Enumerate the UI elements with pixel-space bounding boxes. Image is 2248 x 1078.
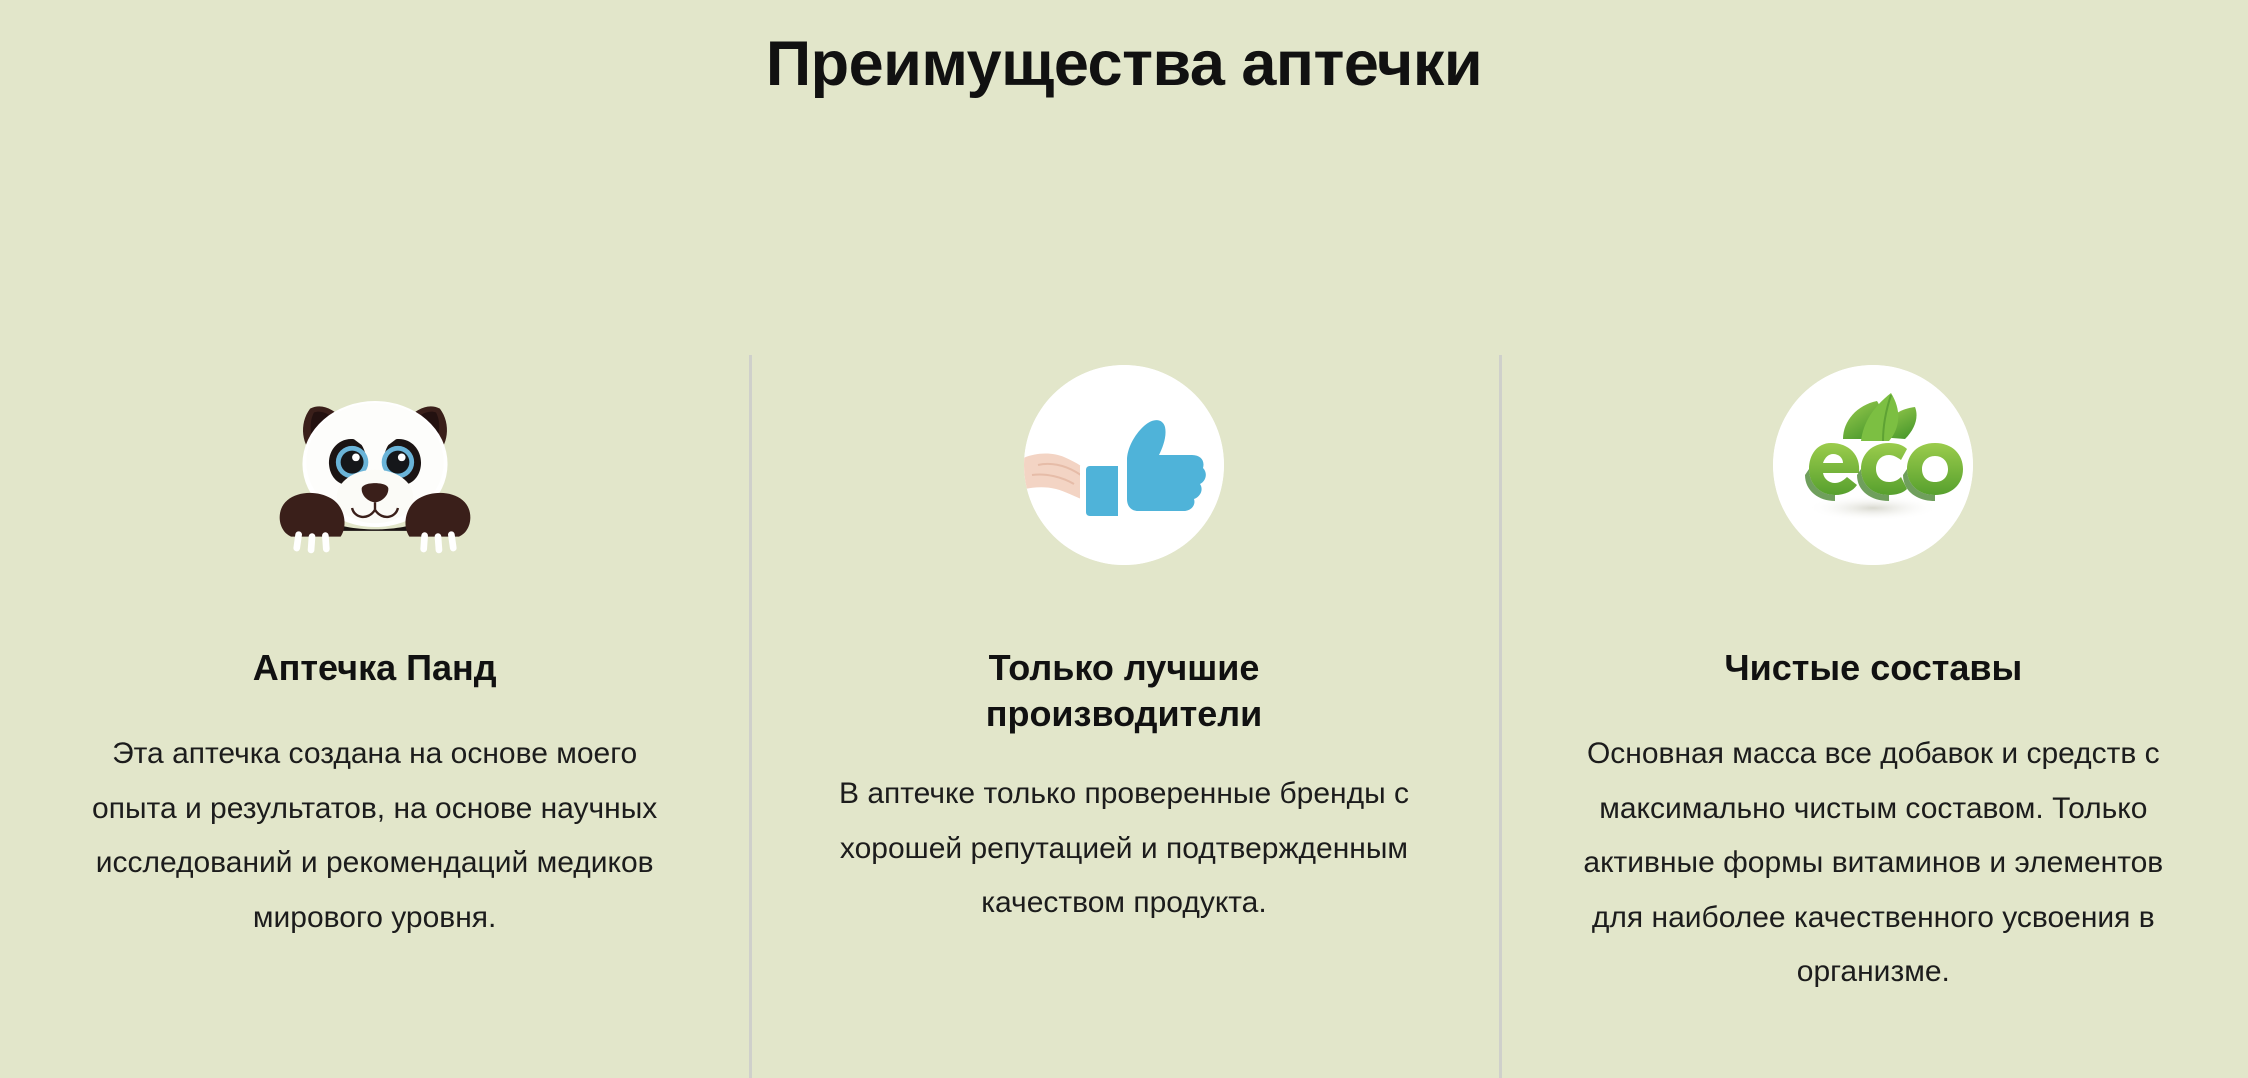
thumbs-up-hand-icon	[1024, 365, 1224, 565]
advantages-columns: Аптечка Панд Эта аптечка создана на осно…	[0, 330, 2248, 1078]
advantage-card-2: Только лучшие производители В аптечке то…	[749, 330, 1498, 1078]
advantage-icon-slot-2	[1014, 352, 1234, 577]
advantages-section: Преимущества аптечки	[0, 0, 2248, 1078]
panda-illustration	[270, 375, 480, 555]
page-title: Преимущества аптечки	[0, 28, 2248, 100]
advantage-card-1: Аптечка Панд Эта аптечка создана на осно…	[0, 330, 749, 1078]
advantage-icon-slot-3	[1763, 352, 1983, 577]
advantage-body-1: Эта аптечка создана на основе моего опыт…	[85, 727, 665, 945]
advantage-body-3: Основная масса все добавок и средств с м…	[1563, 727, 2183, 1000]
advantage-heading-1: Аптечка Панд	[253, 645, 497, 691]
advantage-heading-2: Только лучшие производители	[904, 645, 1344, 737]
advantage-heading-3: Чистые составы	[1724, 645, 2022, 691]
advantage-body-2: В аптечке только проверенные бренды с хо…	[824, 767, 1424, 931]
advantage-card-3: Чистые составы Основная масса все добаво…	[1499, 330, 2248, 1078]
advantage-icon-slot-1	[265, 352, 485, 577]
eco-leaf-logo-icon	[1773, 365, 1973, 565]
